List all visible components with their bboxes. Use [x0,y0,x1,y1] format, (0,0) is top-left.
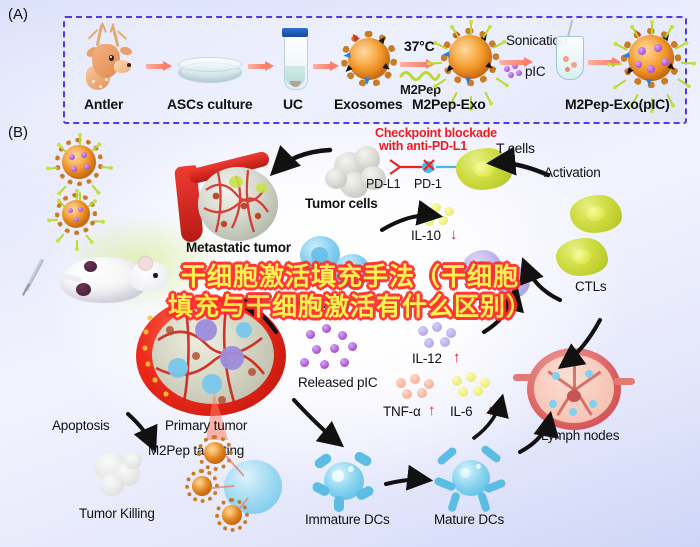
label-il6: IL-6 [450,404,472,419]
exosome-particle [348,38,390,80]
watermark-line-1: 干细胞激活填充手法（干细胞 [0,262,700,292]
lymph-node-illustration [527,348,621,430]
panel-a-tag: (A) [8,6,28,23]
label-pdl1: PD-L1 [366,177,400,191]
label-il12: IL-12 [412,351,442,366]
checkpoint-blockade-line2: with anti-PD-L1 [379,139,467,153]
label-mature-dcs: Mature DCs [434,512,504,527]
arrow-exosomes-to-m2pep-exo [400,60,436,69]
step-label-antler: Antler [84,96,123,112]
mature-dc-illustration [434,448,508,512]
label-il10: IL-10 [411,228,441,243]
step-label-exosomes: Exosomes [334,96,402,112]
il12-up-arrow: ↑ [453,349,460,366]
label-primary-tumor: Primary tumor [165,418,247,433]
injected-exosome-1 [62,145,96,179]
step-label-m2pep-exo-pic: M2Pep-Exo(pIC) [565,96,670,112]
il6-up-arrow: ↑ [487,402,494,419]
tnfa-up-arrow: ↑ [428,402,435,419]
label-t-cells: T cells [496,140,535,156]
checkpoint-blockade-line1: Checkpoint blockade [375,126,497,140]
arrow-ascs-to-uc [248,62,274,71]
label-released-pic: Released pIC [298,375,377,390]
immature-dc-illustration [310,450,380,512]
label-apoptosis: Apoptosis [52,418,110,433]
arrow-uc-to-exosomes [313,62,339,71]
sonication-tube-illustration [556,34,584,82]
label-lymph-nodes: Lymph nodes [541,428,619,443]
uc-tube-illustration [282,28,308,90]
label-tumor-killing: Tumor Killing [79,506,155,521]
label-tnfa: TNF-α [383,404,421,419]
chinese-watermark: 干细胞激活填充手法（干细胞 填充与干细胞激活有什么区别） [0,262,700,322]
injected-exosome-2 [62,200,90,228]
label-pd1: PD-1 [414,177,442,191]
arrow-antler-to-ascs [146,62,172,71]
m2pep-exosome-particle [448,35,492,79]
arrow-m2pep-to-sonication [500,58,534,67]
temperature-annotation: 37°C [404,38,434,54]
m2pep-exo-pic-particle [628,35,674,81]
label-tumor-cells: Tumor cells [305,196,378,211]
label-immature-dcs: Immature DCs [305,512,390,527]
label-metastatic-tumor: Metastatic tumor [186,240,291,255]
step-label-uc: UC [283,96,303,112]
label-activation: Activation [544,165,601,180]
watermark-line-2: 填充与干细胞激活有什么区别） [0,292,700,322]
il10-down-arrow: ↓ [450,226,457,243]
ascs-culture-dish-illustration [178,62,240,86]
antler-deer-illustration [78,22,148,94]
step-label-ascs-culture: ASCs culture [167,96,253,112]
arrow-immature-to-mature-dc [386,480,428,485]
figure-canvas: (A) Antler ASCs culture UC [0,0,700,547]
arrow-tumorcells-to-metastatic [274,150,330,172]
arrow-pic-to-immature-dc [294,400,340,444]
step-label-m2pep-exo: M2Pep-Exo [412,96,486,112]
ctl-cell-1 [570,195,622,233]
panel-b-tag: (B) [8,124,28,141]
